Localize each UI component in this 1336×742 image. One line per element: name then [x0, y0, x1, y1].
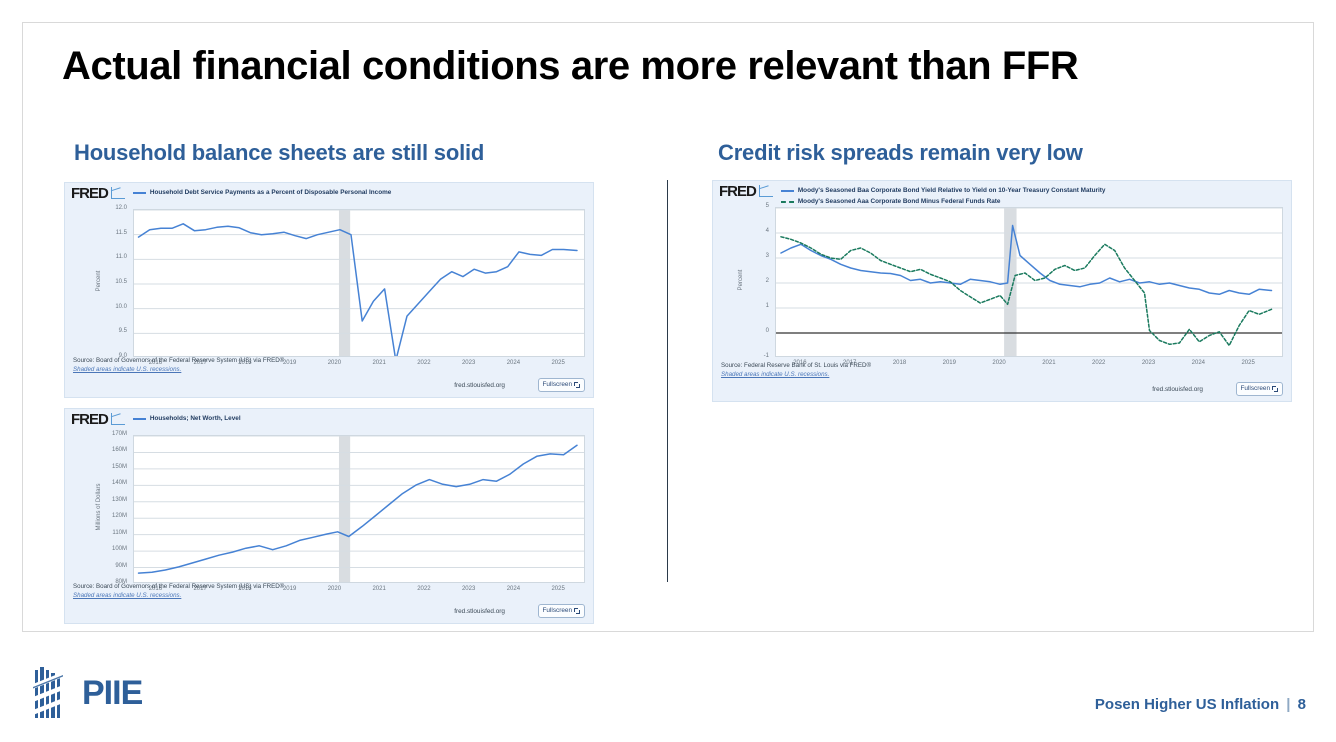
- fred-logo: FRED: [71, 413, 108, 426]
- footer-deck-info: Posen Higher US Inflation | 8: [1095, 696, 1306, 713]
- y-axis-tick: 160M: [87, 447, 127, 453]
- page-number: 8: [1298, 696, 1306, 713]
- piie-mark-icon: [33, 664, 75, 722]
- x-axis-tick: 2023: [1129, 360, 1169, 366]
- legend-swatch-solid-blue-icon: [781, 190, 794, 192]
- plot-canvas: [775, 207, 1283, 357]
- fred-card-header: FRED Moody's Seasoned Baa Corporate Bond…: [713, 181, 1291, 203]
- legend-label: Household Debt Service Payments as a Per…: [150, 188, 392, 197]
- x-axis-tick: 2024: [1178, 360, 1218, 366]
- y-axis-tick: 9.5: [87, 328, 127, 334]
- plot-area: Percent543210-12016201720182019202020212…: [713, 203, 1291, 368]
- recession-note: Shaded areas indicate U.S. recessions.: [721, 370, 871, 379]
- x-axis-tick: 2019: [929, 360, 969, 366]
- y-axis-tick: 110M: [87, 530, 127, 536]
- fred-url: fred.stlouisfed.org: [454, 382, 505, 389]
- fullscreen-button[interactable]: Fullscreen: [538, 378, 585, 392]
- y-axis-tick: 90M: [87, 563, 127, 569]
- x-axis-tick: 2025: [1228, 360, 1268, 366]
- y-axis-tick: 170M: [87, 431, 127, 437]
- fullscreen-label: Fullscreen: [1241, 385, 1270, 393]
- fred-card-header: FRED Household Debt Service Payments as …: [65, 183, 593, 205]
- y-axis-tick: 2: [729, 278, 769, 284]
- page-title: Actual financial conditions are more rel…: [62, 44, 1277, 88]
- column-divider: [667, 180, 668, 582]
- plot-area: Percent12.011.511.010.510.09.59.02016201…: [65, 205, 593, 365]
- chart-source: Source: Board of Governors of the Federa…: [73, 356, 284, 365]
- fred-url: fred.stlouisfed.org: [454, 608, 505, 615]
- fred-chart-icon: [111, 187, 125, 199]
- y-axis-tick: 10.0: [87, 304, 127, 310]
- x-axis-tick: 2022: [404, 360, 444, 366]
- chart-footer: Source: Board of Governors of the Federa…: [73, 356, 284, 374]
- plot-canvas: [133, 435, 585, 583]
- y-axis-tick: 140M: [87, 480, 127, 486]
- x-axis-tick: 2025: [538, 586, 578, 592]
- legend-label: Households; Net Worth, Level: [150, 414, 241, 423]
- y-axis-tick: 0: [729, 328, 769, 334]
- y-axis-tick: 100M: [87, 546, 127, 552]
- fred-chart-icon: [111, 413, 125, 425]
- chart-legend: Household Debt Service Payments as a Per…: [133, 187, 392, 199]
- chart-source: Source: Board of Governors of the Federa…: [73, 582, 284, 591]
- chart-legend: Households; Net Worth, Level: [133, 413, 241, 425]
- fullscreen-button[interactable]: Fullscreen: [1236, 382, 1283, 396]
- y-axis-tick: 11.0: [87, 254, 127, 260]
- legend-label: Moody's Seasoned Baa Corporate Bond Yiel…: [798, 186, 1106, 195]
- fred-chart-icon: [759, 185, 773, 197]
- y-axis-tick: 1: [729, 303, 769, 309]
- y-axis-tick: 150M: [87, 464, 127, 470]
- legend-swatch-solid-blue-icon: [133, 418, 146, 420]
- legend-item: Household Debt Service Payments as a Per…: [133, 188, 392, 197]
- x-axis-tick: 2022: [404, 586, 444, 592]
- section-heading-left: Household balance sheets are still solid: [74, 140, 484, 166]
- x-axis-tick: 2020: [979, 360, 1019, 366]
- fred-url: fred.stlouisfed.org: [1152, 386, 1203, 393]
- fred-card-header: FRED Households; Net Worth, Level: [65, 409, 593, 431]
- x-axis-tick: 2021: [359, 586, 399, 592]
- chart-footer: Source: Federal Reserve Bank of St. Loui…: [721, 361, 871, 379]
- y-axis-tick: -1: [729, 353, 769, 359]
- piie-wordmark: PIIE: [82, 676, 142, 710]
- x-axis-tick: 2022: [1079, 360, 1119, 366]
- deck-title: Posen Higher US Inflation: [1095, 696, 1279, 713]
- footer-separator: |: [1286, 696, 1290, 713]
- y-axis-tick: 3: [729, 253, 769, 259]
- recession-note: Shaded areas indicate U.S. recessions.: [73, 591, 284, 600]
- y-axis-tick: 11.5: [87, 230, 127, 236]
- fullscreen-button[interactable]: Fullscreen: [538, 604, 585, 618]
- x-axis-tick: 2018: [880, 360, 920, 366]
- fullscreen-label: Fullscreen: [543, 381, 572, 389]
- x-axis-tick: 2021: [1029, 360, 1069, 366]
- legend-swatch-solid-blue-icon: [133, 192, 146, 194]
- x-axis-tick: 2020: [314, 360, 354, 366]
- expand-icon: [574, 608, 580, 614]
- x-axis-tick: 2023: [449, 586, 489, 592]
- recession-note: Shaded areas indicate U.S. recessions.: [73, 365, 284, 374]
- y-axis-tick: 130M: [87, 497, 127, 503]
- plot-area: Millions of Dollars170M160M150M140M130M1…: [65, 431, 593, 591]
- section-heading-right: Credit risk spreads remain very low: [718, 140, 1083, 166]
- fred-chart-card-net-worth: FRED Households; Net Worth, Level Millio…: [64, 408, 594, 624]
- x-axis-tick: 2021: [359, 360, 399, 366]
- y-axis-tick: 5: [729, 203, 769, 209]
- fred-chart-card-credit-spreads: FRED Moody's Seasoned Baa Corporate Bond…: [712, 180, 1292, 402]
- slide: Actual financial conditions are more rel…: [0, 0, 1336, 742]
- fred-logo: FRED: [719, 185, 756, 198]
- chart-source: Source: Federal Reserve Bank of St. Loui…: [721, 361, 871, 370]
- x-axis-tick: 2024: [493, 586, 533, 592]
- x-axis-tick: 2023: [449, 360, 489, 366]
- piie-logo: PIIE: [33, 664, 142, 722]
- legend-item: Households; Net Worth, Level: [133, 414, 241, 423]
- expand-icon: [574, 382, 580, 388]
- plot-canvas: [133, 209, 585, 357]
- chart-footer: Source: Board of Governors of the Federa…: [73, 582, 284, 600]
- legend-item: Moody's Seasoned Baa Corporate Bond Yiel…: [781, 186, 1106, 195]
- x-axis-tick: 2020: [314, 586, 354, 592]
- fred-logo: FRED: [71, 187, 108, 200]
- expand-icon: [1272, 386, 1278, 392]
- fred-chart-card-debt-service: FRED Household Debt Service Payments as …: [64, 182, 594, 398]
- y-axis-tick: 4: [729, 228, 769, 234]
- fullscreen-label: Fullscreen: [543, 607, 572, 615]
- y-axis-tick: 120M: [87, 513, 127, 519]
- y-axis-tick: 10.5: [87, 279, 127, 285]
- x-axis-tick: 2024: [493, 360, 533, 366]
- x-axis-tick: 2025: [538, 360, 578, 366]
- y-axis-tick: 12.0: [87, 205, 127, 211]
